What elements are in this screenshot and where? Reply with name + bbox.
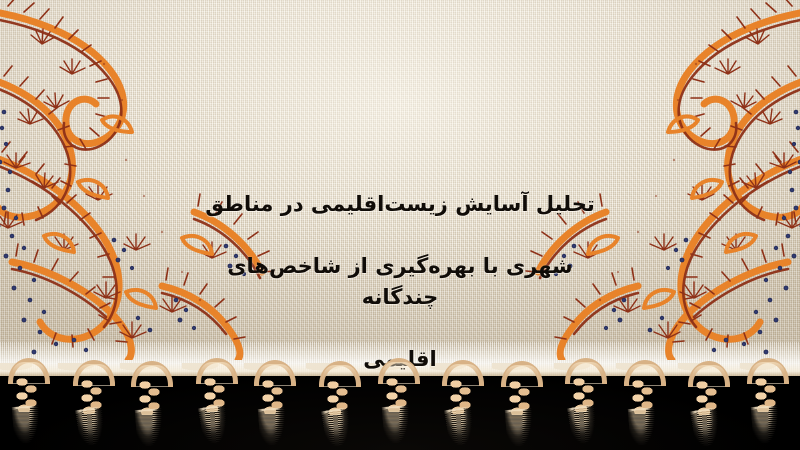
slide-canvas: تحلیل آسایش زیست‌اقلیمی در مناطق شهری با… xyxy=(0,0,800,450)
fringe-tassel xyxy=(376,358,422,450)
fringe-tassel xyxy=(563,358,609,450)
fringe-tassel xyxy=(440,360,486,450)
fringe-tassel xyxy=(745,358,791,450)
title-line-1: تحلیل آسایش زیست‌اقلیمی در مناطق xyxy=(190,189,610,220)
tassel-thread-brush xyxy=(135,408,166,450)
tassel-thread-brush xyxy=(627,407,658,449)
knotted-tassel-fringe xyxy=(0,358,800,450)
fringe-tassel xyxy=(622,360,668,450)
title-line-2: شهری با بهره‌گیری از شاخص‌های چندگانه xyxy=(190,251,610,313)
fringe-tassel xyxy=(71,360,117,450)
tassel-thread-brush xyxy=(12,405,43,447)
tassel-thread-brush xyxy=(750,405,781,447)
tassel-thread-brush xyxy=(381,405,412,447)
tassel-thread-brush xyxy=(258,407,289,449)
tassel-thread-brush xyxy=(504,408,535,450)
tassel-thread-brush xyxy=(198,404,232,448)
fringe-tassel xyxy=(252,360,298,450)
fringe-tassel xyxy=(686,361,732,450)
fringe-tassel xyxy=(317,361,363,450)
fringe-tassel xyxy=(6,358,52,450)
fringe-tassel xyxy=(499,361,545,450)
fringe-tassel xyxy=(194,358,240,450)
tassel-thread-brush xyxy=(321,407,355,450)
tassel-thread-brush xyxy=(75,406,109,450)
fringe-tassel xyxy=(129,361,175,450)
